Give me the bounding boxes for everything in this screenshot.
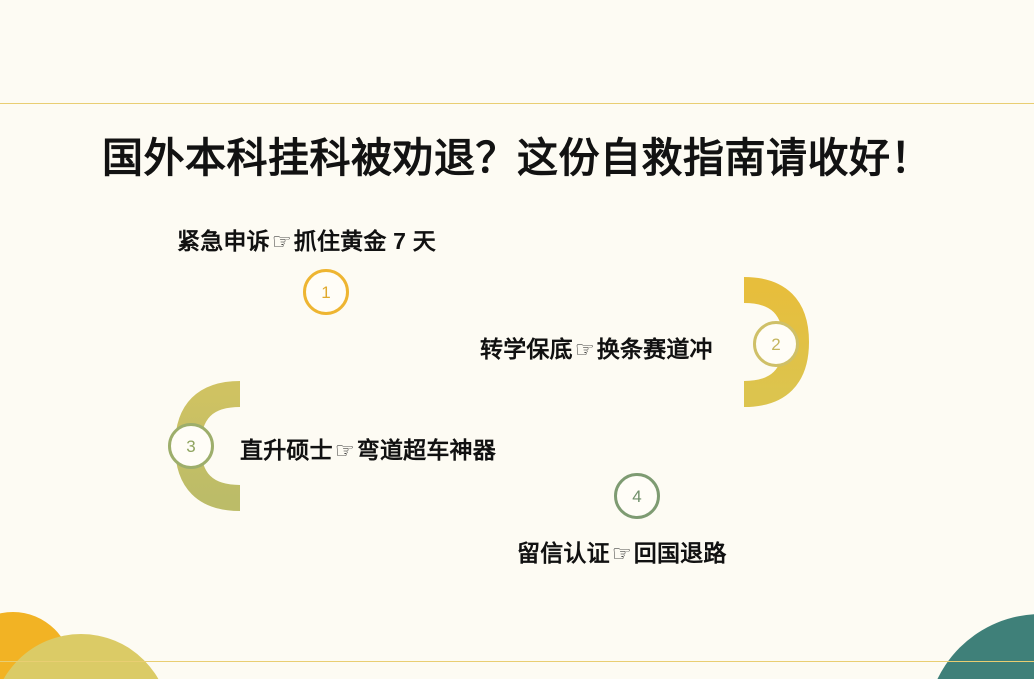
step-marker-1[interactable]: 1 <box>303 269 349 315</box>
step-marker-2-number: 2 <box>771 336 780 353</box>
step-label-4: 留信认证☞回国退路 <box>517 534 727 568</box>
step-label-4-after: 回国退路 <box>634 540 727 566</box>
step-marker-4[interactable]: 4 <box>614 473 660 519</box>
step-label-3: 直升硕士☞弯道超车神器 <box>240 431 496 465</box>
step-marker-3[interactable]: 3 <box>168 423 214 469</box>
step-label-1-after: 抓住黄金 7 天 <box>294 228 436 254</box>
step-marker-1-number: 1 <box>321 284 330 301</box>
step-label-3-before: 直升硕士 <box>240 437 333 463</box>
step-label-2: 转学保底☞换条赛道冲 <box>480 330 713 364</box>
pointing-hand-icon: ☞ <box>270 229 294 254</box>
pointing-hand-icon: ☞ <box>610 541 634 566</box>
slide-canvas: 国外本科挂科被劝退？这份自救指南请收好！ <box>0 0 1034 679</box>
step-label-3-after: 弯道超车神器 <box>357 437 496 463</box>
pointing-hand-icon: ☞ <box>333 438 357 463</box>
step-label-2-before: 转学保底 <box>480 336 573 362</box>
step-label-1-before: 紧急申诉 <box>177 228 270 254</box>
step-marker-2[interactable]: 2 <box>753 321 799 367</box>
pointing-hand-icon: ☞ <box>573 337 597 362</box>
step-marker-4-number: 4 <box>632 488 641 505</box>
step-label-1: 紧急申诉☞抓住黄金 7 天 <box>177 222 436 256</box>
step-marker-3-number: 3 <box>186 438 195 455</box>
step-label-4-before: 留信认证 <box>517 540 610 566</box>
bottom-divider-rule <box>0 661 1034 662</box>
step-label-2-after: 换条赛道冲 <box>597 336 713 362</box>
